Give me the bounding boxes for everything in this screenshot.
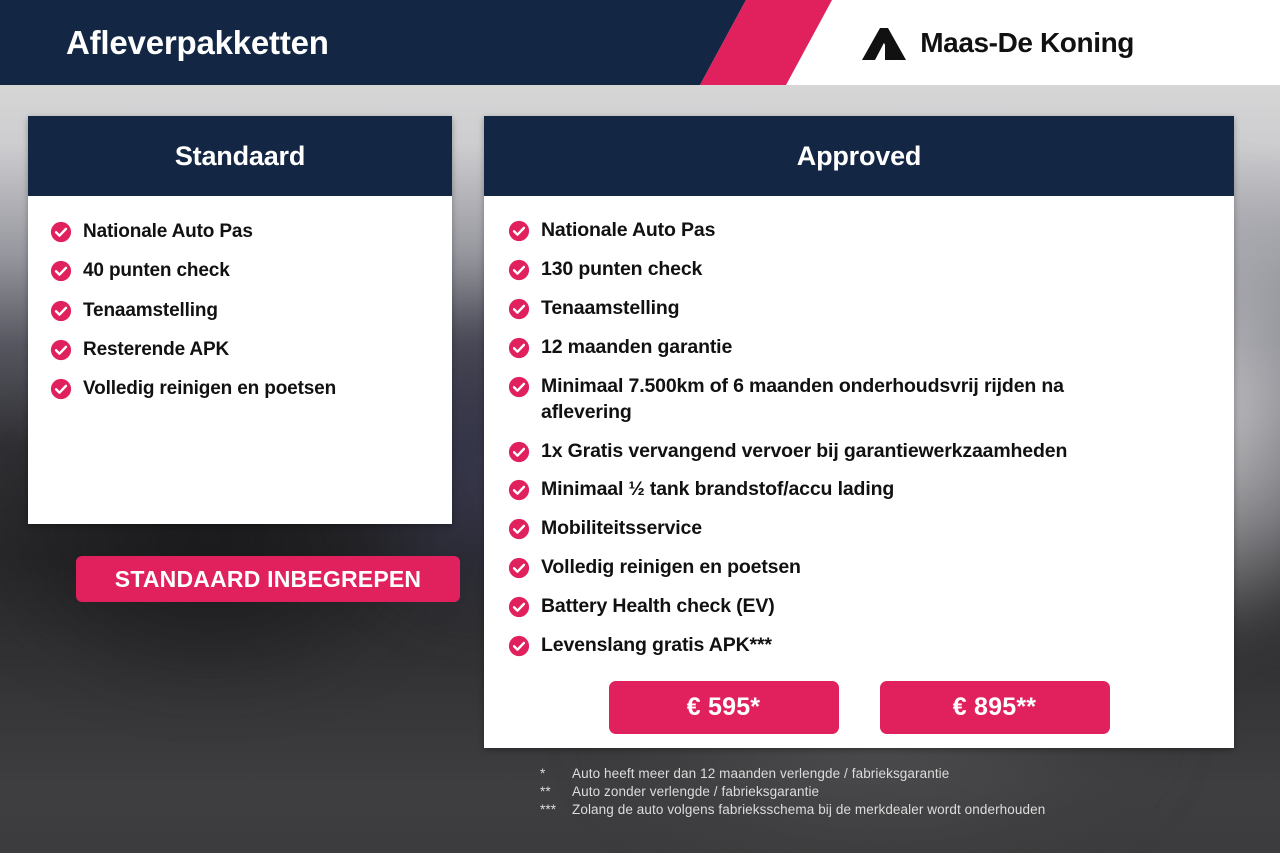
feature-label: Resterende APK <box>83 337 229 362</box>
standaard-inbegrepen-button[interactable]: STANDAARD INBEGREPEN <box>76 556 460 602</box>
page-title: Afleverpakketten <box>66 0 329 85</box>
feature-label: 130 punten check <box>541 257 702 283</box>
list-item: Volledig reinigen en poetsen <box>50 376 452 401</box>
footnote-marker: ** <box>540 783 572 801</box>
package-card-approved: Approved Nationale Auto Pas 130 punten c… <box>484 116 1234 748</box>
list-item: Tenaamstelling <box>50 298 452 323</box>
feature-label: Nationale Auto Pas <box>541 218 715 244</box>
list-item: Levenslang gratis APK*** <box>508 633 1234 659</box>
list-item: Tenaamstelling <box>508 296 1234 322</box>
feature-label: 12 maanden garantie <box>541 335 732 361</box>
check-circle-icon <box>508 298 530 320</box>
feature-label: Volledig reinigen en poetsen <box>83 376 336 401</box>
price-button-row: € 595* € 895** <box>484 681 1234 734</box>
feature-list-approved: Nationale Auto Pas 130 punten check Tena… <box>508 218 1234 659</box>
feature-label: Tenaamstelling <box>541 296 679 322</box>
brand-name: Maas-De Koning <box>920 27 1134 59</box>
card-header-standaard: Standaard <box>28 116 452 196</box>
maas-de-koning-m-logo-icon <box>862 26 906 60</box>
list-item: Resterende APK <box>50 337 452 362</box>
check-circle-icon <box>508 337 530 359</box>
price-button-895[interactable]: € 895** <box>880 681 1110 734</box>
check-circle-icon <box>508 441 530 463</box>
feature-label: Minimaal 7.500km of 6 maanden onderhouds… <box>541 374 1141 426</box>
feature-label: Levenslang gratis APK*** <box>541 633 772 659</box>
feature-label: Nationale Auto Pas <box>83 219 253 244</box>
footnote-marker: *** <box>540 801 572 819</box>
list-item: 130 punten check <box>508 257 1234 283</box>
footnote-text: Zolang de auto volgens fabrieksschema bi… <box>572 801 1240 819</box>
feature-label: Battery Health check (EV) <box>541 594 775 620</box>
feature-label: 40 punten check <box>83 258 230 283</box>
check-circle-icon <box>508 220 530 242</box>
feature-label: Tenaamstelling <box>83 298 218 323</box>
footnote-item: *** Zolang de auto volgens fabrieksschem… <box>540 801 1240 819</box>
list-item: Mobiliteitsservice <box>508 516 1234 542</box>
check-circle-icon <box>508 479 530 501</box>
card-title-approved: Approved <box>797 141 921 172</box>
list-item: Nationale Auto Pas <box>50 219 452 244</box>
list-item: Minimaal ½ tank brandstof/accu lading <box>508 477 1234 503</box>
check-circle-icon <box>508 557 530 579</box>
feature-list-standaard: Nationale Auto Pas 40 punten check Tenaa… <box>50 219 452 401</box>
list-item: Battery Health check (EV) <box>508 594 1234 620</box>
package-card-standaard: Standaard Nationale Auto Pas 40 punten c… <box>28 116 452 524</box>
card-title-standaard: Standaard <box>175 141 305 172</box>
list-item: Volledig reinigen en poetsen <box>508 555 1234 581</box>
footnote-list: * Auto heeft meer dan 12 maanden verleng… <box>540 765 1240 819</box>
check-circle-icon <box>508 259 530 281</box>
footnote-text: Auto heeft meer dan 12 maanden verlengde… <box>572 765 1240 783</box>
list-item: Nationale Auto Pas <box>508 218 1234 244</box>
list-item: Minimaal 7.500km of 6 maanden onderhouds… <box>508 374 1234 426</box>
footnote-text: Auto zonder verlengde / fabrieksgarantie <box>572 783 1240 801</box>
check-circle-icon <box>50 300 72 322</box>
footnote-marker: * <box>540 765 572 783</box>
feature-label: Minimaal ½ tank brandstof/accu lading <box>541 477 894 503</box>
check-circle-icon <box>50 378 72 400</box>
feature-label: Mobiliteitsservice <box>541 516 702 542</box>
check-circle-icon <box>50 260 72 282</box>
list-item: 12 maanden garantie <box>508 335 1234 361</box>
price-button-595[interactable]: € 595* <box>609 681 839 734</box>
feature-label: Volledig reinigen en poetsen <box>541 555 801 581</box>
brand-lockup: Maas-De Koning <box>862 0 1134 85</box>
check-circle-icon <box>508 518 530 540</box>
check-circle-icon <box>508 635 530 657</box>
card-header-approved: Approved <box>484 116 1234 196</box>
page-header: Afleverpakketten Maas-De Koning <box>0 0 1280 85</box>
check-circle-icon <box>50 339 72 361</box>
check-circle-icon <box>508 376 530 398</box>
feature-label: 1x Gratis vervangend vervoer bij garanti… <box>541 439 1067 465</box>
footnote-item: ** Auto zonder verlengde / fabrieksgaran… <box>540 783 1240 801</box>
list-item: 1x Gratis vervangend vervoer bij garanti… <box>508 439 1234 465</box>
check-circle-icon <box>50 221 72 243</box>
afleverpakketten-page: Afleverpakketten Maas-De Koning Standaar… <box>0 0 1280 853</box>
list-item: 40 punten check <box>50 258 452 283</box>
check-circle-icon <box>508 596 530 618</box>
footnote-item: * Auto heeft meer dan 12 maanden verleng… <box>540 765 1240 783</box>
